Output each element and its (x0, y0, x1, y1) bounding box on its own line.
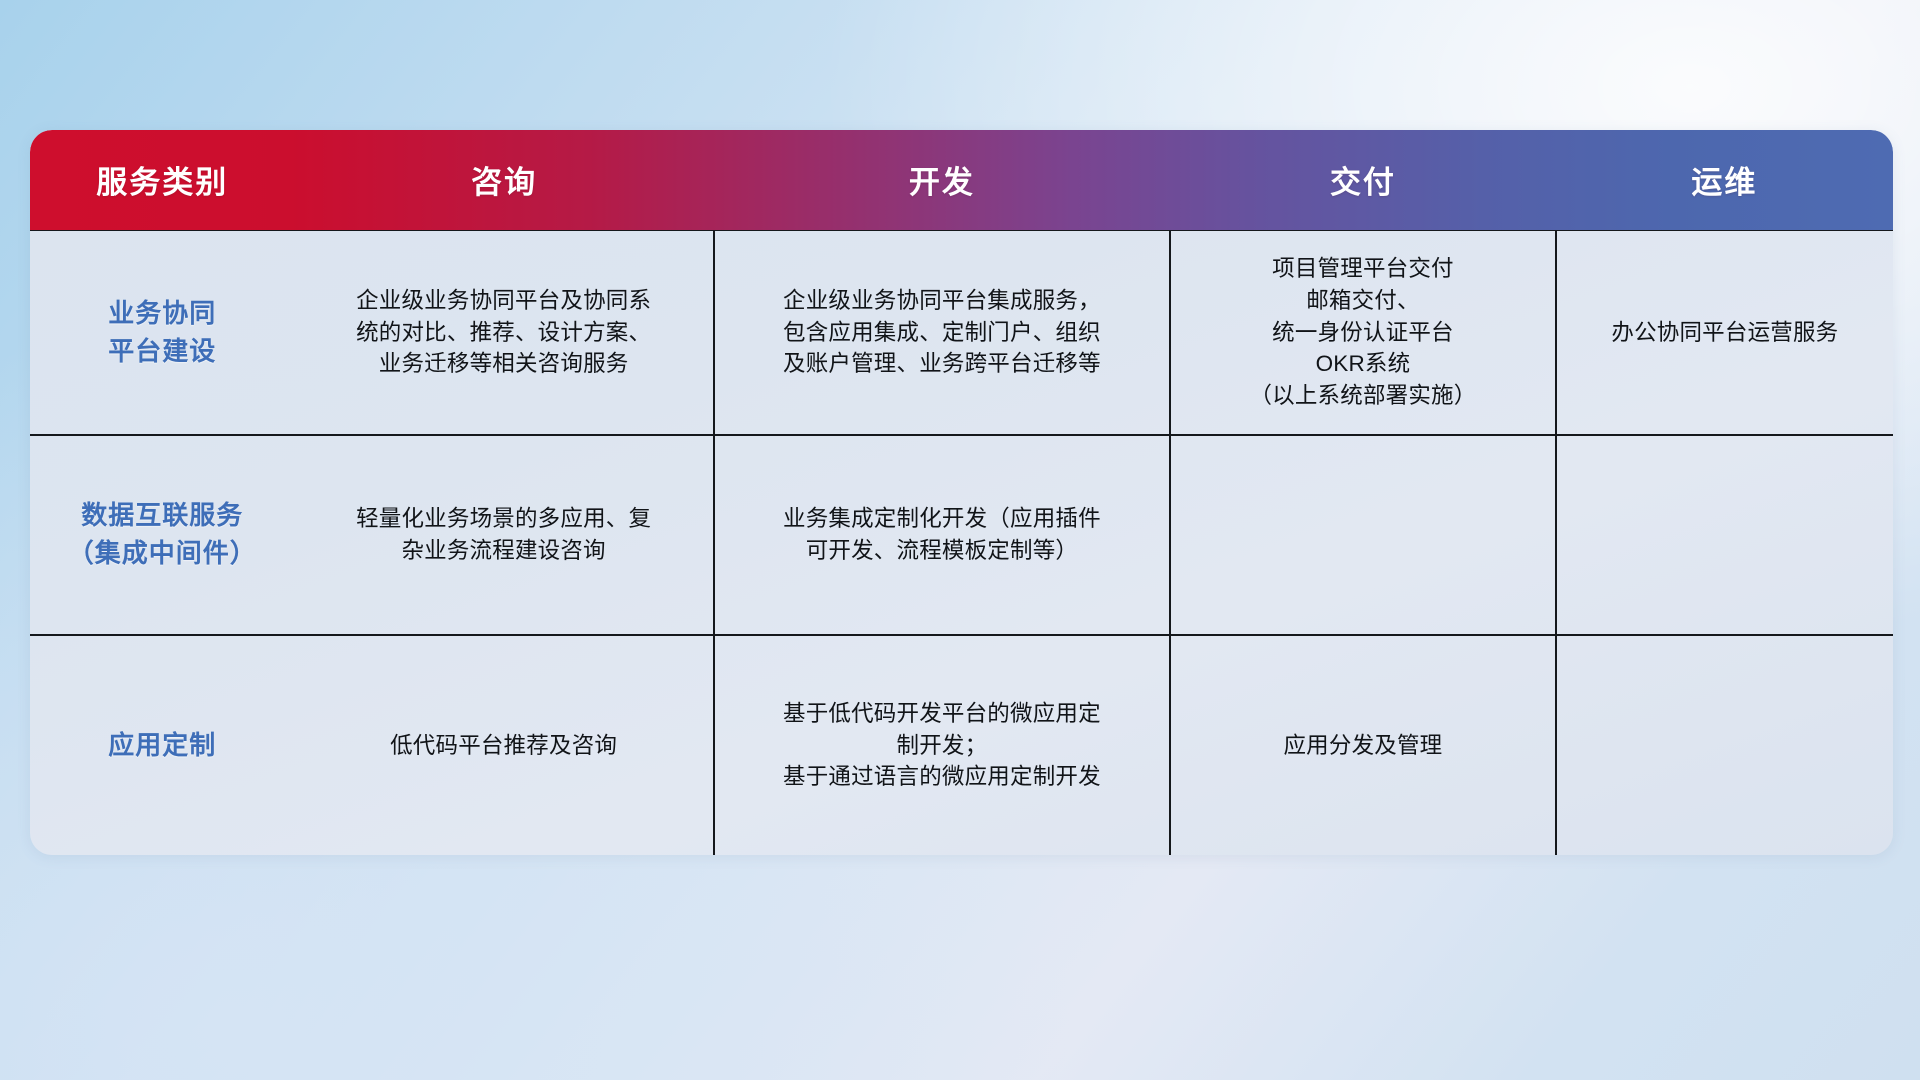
cell-operations (1556, 635, 1893, 855)
cell-development: 基于低代码开发平台的微应用定 制开发； 基于通过语言的微应用定制开发 (714, 635, 1170, 855)
column-header-delivery[interactable]: 交付 (1170, 130, 1556, 230)
row-category-label: 数据互联服务 （集成中间件） (30, 435, 295, 635)
column-header-consulting[interactable]: 咨询 (295, 130, 714, 230)
column-header-development[interactable]: 开发 (714, 130, 1170, 230)
column-header-service-category[interactable]: 服务类别 (30, 130, 295, 230)
table-row: 数据互联服务 （集成中间件） 轻量化业务场景的多应用、复 杂业务流程建设咨询 业… (30, 435, 1893, 635)
table-row: 业务协同 平台建设 企业级业务协同平台及协同系 统的对比、推荐、设计方案、 业务… (30, 230, 1893, 435)
cell-delivery (1170, 435, 1556, 635)
cell-operations: 办公协同平台运营服务 (1556, 230, 1893, 435)
services-table: 服务类别 咨询 开发 交付 运维 业务协同 平台建设 企业级业务协同平台及协同系… (30, 130, 1893, 855)
table-row: 应用定制 低代码平台推荐及咨询 基于低代码开发平台的微应用定 制开发； 基于通过… (30, 635, 1893, 855)
cell-delivery: 应用分发及管理 (1170, 635, 1556, 855)
cell-consulting: 企业级业务协同平台及协同系 统的对比、推荐、设计方案、 业务迁移等相关咨询服务 (295, 230, 714, 435)
cell-development: 业务集成定制化开发（应用插件 可开发、流程模板定制等） (714, 435, 1170, 635)
cell-consulting: 低代码平台推荐及咨询 (295, 635, 714, 855)
row-category-label: 业务协同 平台建设 (30, 230, 295, 435)
cell-development: 企业级业务协同平台集成服务， 包含应用集成、定制门户、组织 及账户管理、业务跨平… (714, 230, 1170, 435)
table-header-row: 服务类别 咨询 开发 交付 运维 (30, 130, 1893, 230)
page-canvas: 服务类别 咨询 开发 交付 运维 业务协同 平台建设 企业级业务协同平台及协同系… (0, 0, 1920, 1080)
table-body: 业务协同 平台建设 企业级业务协同平台及协同系 统的对比、推荐、设计方案、 业务… (30, 230, 1893, 855)
service-category-table: 服务类别 咨询 开发 交付 运维 业务协同 平台建设 企业级业务协同平台及协同系… (30, 130, 1893, 855)
cell-delivery: 项目管理平台交付 邮箱交付、 统一身份认证平台 OKR系统 （以上系统部署实施） (1170, 230, 1556, 435)
cell-consulting: 轻量化业务场景的多应用、复 杂业务流程建设咨询 (295, 435, 714, 635)
column-header-operations[interactable]: 运维 (1556, 130, 1893, 230)
table-head: 服务类别 咨询 开发 交付 运维 (30, 130, 1893, 230)
row-category-label: 应用定制 (30, 635, 295, 855)
cell-operations (1556, 435, 1893, 635)
